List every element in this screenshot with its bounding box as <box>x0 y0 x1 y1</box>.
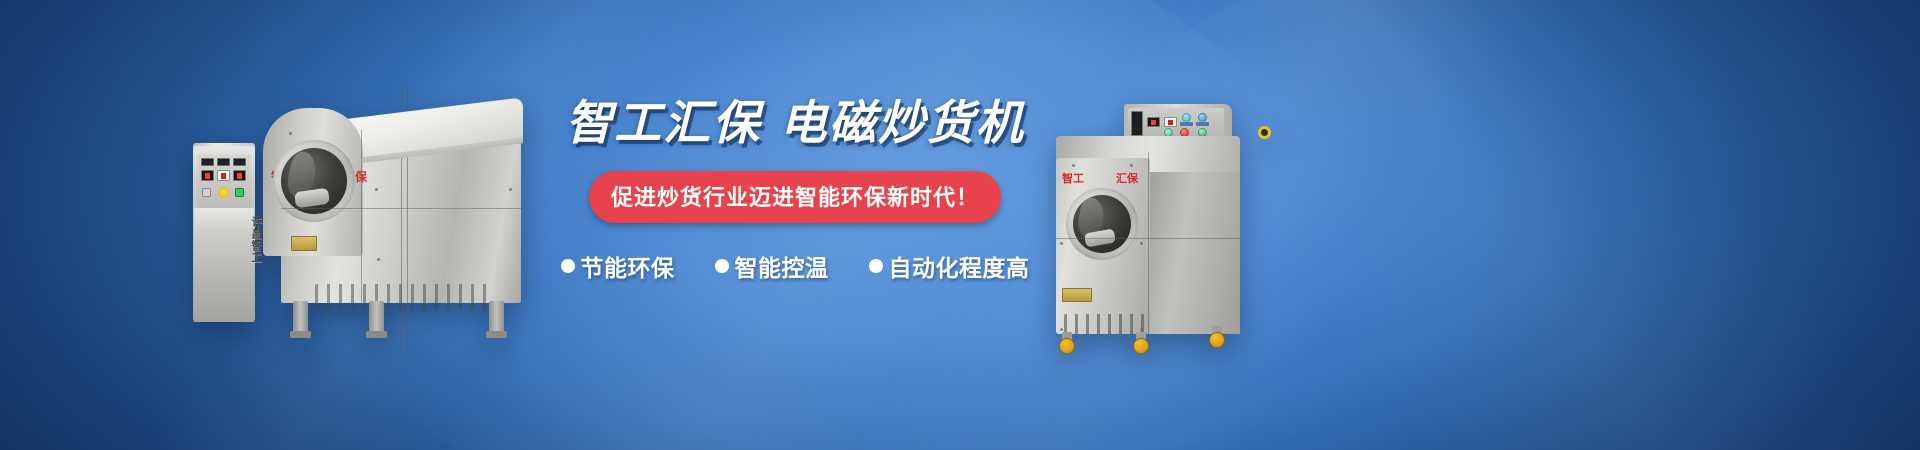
support-foot <box>486 331 507 338</box>
rivet <box>377 258 380 261</box>
digital-display-2 <box>217 170 230 181</box>
panel-seam-vertical <box>1148 152 1149 334</box>
warning-label-plate <box>291 236 317 251</box>
drum-opening <box>281 148 347 214</box>
caster-wheel <box>1059 338 1075 354</box>
product-image-roaster-compact: 智工 汇保 <box>1040 92 1270 354</box>
indicator-light-cyan <box>1182 113 1191 122</box>
rivet <box>1060 242 1063 245</box>
tagline-badge: 促进炒货行业迈进智能环保新时代！ <box>589 171 1001 223</box>
controller-screen <box>1131 111 1143 136</box>
rivet <box>1140 242 1143 245</box>
feature-label: 智能控温 <box>735 249 829 283</box>
page-title: 智工汇保 电磁炒货机 <box>560 100 1030 147</box>
caster-wheel <box>1133 338 1149 354</box>
control-panel <box>197 154 251 208</box>
support-leg <box>369 301 384 333</box>
rivet <box>289 132 292 135</box>
promo-banner: 许昌智工 智工 汇保 智工汇保 电磁炒货机 促进炒货行业迈进智能环保新时代！ <box>0 0 1920 450</box>
product-image-roaster-large: 许昌智工 智工 汇保 <box>185 88 570 353</box>
digital-display-3 <box>233 170 246 181</box>
cabinet-vertical-text: 许昌智工 <box>247 216 263 264</box>
rivet <box>1072 164 1075 167</box>
body-ventilation-grille <box>315 284 495 310</box>
button-label-strip <box>1196 122 1209 126</box>
drum-opening <box>1073 195 1131 253</box>
warning-label-plate <box>1062 288 1092 302</box>
feature-item-1: 节能环保 <box>561 249 675 283</box>
power-indicator <box>235 188 244 197</box>
banner-copy: 智工汇保 电磁炒货机 促进炒货行业迈进智能环保新时代！ 节能环保 智能控温 自动… <box>560 100 1030 283</box>
digital-display-1 <box>1147 117 1160 127</box>
panel-meter-2 <box>217 158 230 166</box>
bullet-dot-icon <box>561 259 575 273</box>
support-leg <box>489 301 504 333</box>
digital-display-1 <box>201 170 214 181</box>
rivet <box>375 188 378 191</box>
emergency-stop-button <box>1258 126 1271 139</box>
support-foot <box>366 331 387 338</box>
body-seam <box>361 130 362 302</box>
caster-wheel <box>1209 332 1225 348</box>
brand-mark-right: 汇保 <box>1116 170 1138 186</box>
body-seam-horizontal <box>281 208 521 209</box>
rivet <box>1140 328 1143 331</box>
selector-switch <box>202 188 211 197</box>
feature-label: 节能环保 <box>581 249 675 283</box>
ventilation-grille <box>1064 314 1146 334</box>
cabinet-lower-panel <box>194 208 254 322</box>
brand-mark-left: 智工 <box>1062 170 1084 186</box>
support-leg <box>293 301 308 333</box>
feature-list: 节能环保 智能控温 自动化程度高 <box>560 249 1030 283</box>
rivet <box>509 188 512 191</box>
feature-item-3: 自动化程度高 <box>869 249 1030 283</box>
indicator-light-blue <box>1198 113 1207 122</box>
rivet <box>1130 164 1133 167</box>
rivet <box>1060 328 1063 331</box>
machine-side-panel <box>1148 152 1240 334</box>
panel-meter-3 <box>233 158 246 166</box>
button-label-strip <box>1180 122 1193 126</box>
bullet-dot-icon <box>715 259 729 273</box>
emergency-stop-knob <box>218 187 229 198</box>
digital-display-2 <box>1164 117 1177 127</box>
support-foot <box>290 331 311 338</box>
bullet-dot-icon <box>869 259 883 273</box>
panel-meter-1 <box>201 158 214 166</box>
feature-item-2: 智能控温 <box>715 249 829 283</box>
feature-label: 自动化程度高 <box>889 249 1030 283</box>
